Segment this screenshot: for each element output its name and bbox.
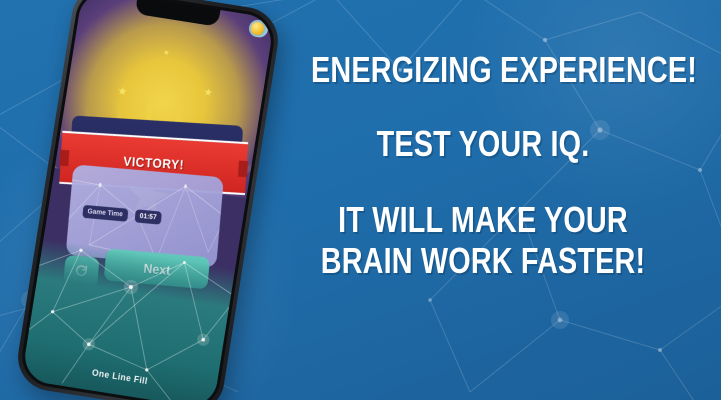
banner-tail-right — [238, 160, 248, 177]
headline-line-2: TEST YOUR IQ. — [311, 126, 655, 162]
banner-tail-left — [59, 149, 69, 166]
headline-line-4: BRAIN WORK FASTER! — [311, 243, 655, 279]
headline-copy-block: ENERGIZING EXPERIENCE! TEST YOUR IQ. IT … — [268, 52, 698, 279]
game-time-value: 01:57 — [135, 209, 162, 224]
advertisement-canvas: ENERGIZING EXPERIENCE! TEST YOUR IQ. IT … — [0, 0, 721, 400]
headline-line-1: ENERGIZING EXPERIENCE! — [311, 52, 655, 88]
headline-line-3: IT WILL MAKE YOUR — [311, 202, 655, 238]
coin-icon — [250, 21, 265, 36]
